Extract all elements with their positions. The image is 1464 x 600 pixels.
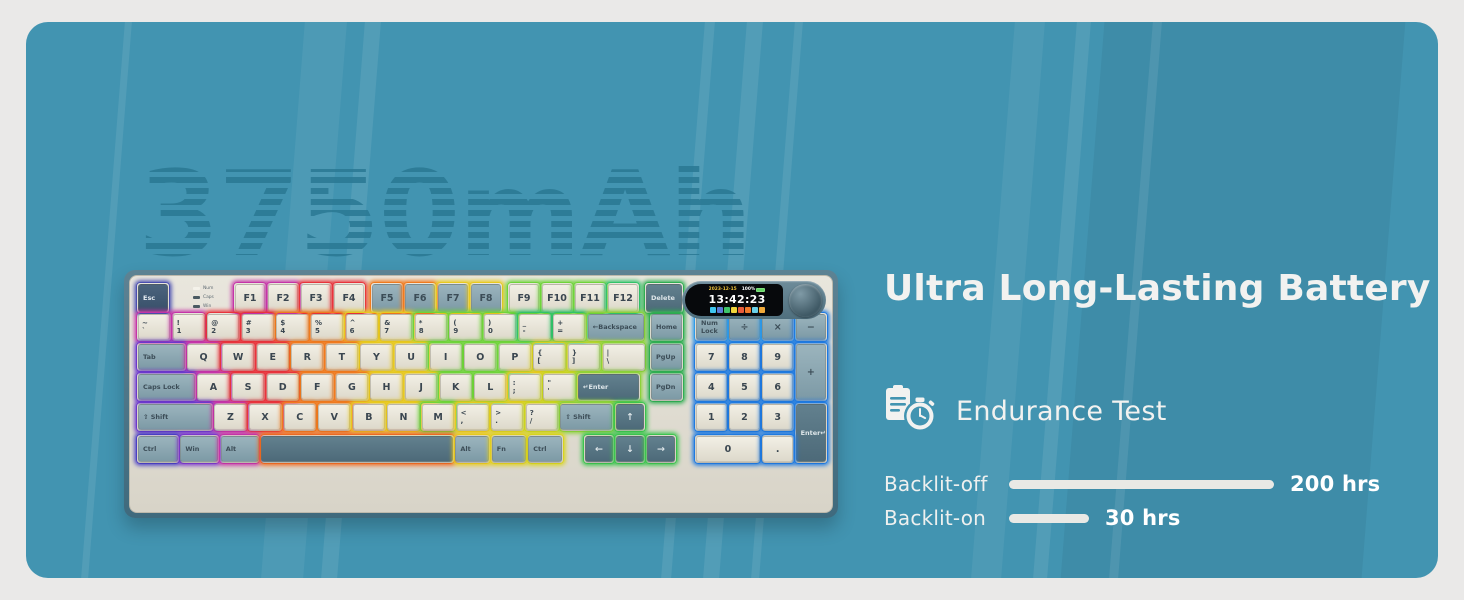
endurance-test-heading: Endurance Test — [884, 385, 1438, 437]
keycap-num-8[interactable]: 8 — [729, 344, 760, 370]
oled-screen: 2023-12-15 100% 13:42:23 — [685, 284, 783, 316]
keycap-55[interactable]: %5 — [311, 314, 343, 340]
led-label-caps: Caps — [203, 295, 214, 300]
led-dot-num — [193, 287, 200, 291]
keycap-44[interactable]: $4 — [276, 314, 308, 340]
screen-battery-pct: 100% — [742, 287, 756, 292]
keycap-z[interactable]: Z — [214, 404, 246, 430]
keycap-w[interactable]: W — [222, 344, 254, 370]
led-dot-caps — [193, 296, 200, 300]
teal-banner: 3750mAh EscF1F2F3F4F5F6F7F8F9F10F11F12De… — [26, 22, 1438, 578]
bar-category-label: Backlit-off — [884, 472, 1009, 496]
keycap-num-period[interactable]: . — [762, 436, 793, 462]
led-num: Num — [193, 286, 214, 291]
screen-status-icon — [717, 307, 723, 313]
keycap-f10[interactable]: F10 — [542, 284, 572, 312]
led-dot-win — [193, 305, 200, 309]
screen-battery: 100% — [742, 287, 766, 292]
keycap-shift-left[interactable]: ⇧ Shift — [138, 404, 212, 430]
display-knob-module: 2023-12-15 100% 13:42:23 — [682, 281, 826, 319]
keycap-bracket-right[interactable]: }] — [568, 344, 600, 370]
keycap-99[interactable]: (9 — [449, 314, 481, 340]
keycap-num-9[interactable]: 9 — [762, 344, 793, 370]
keycap-space[interactable] — [261, 436, 453, 462]
keycap-esc[interactable]: Esc — [138, 284, 168, 312]
keycap-plus[interactable]: + — [796, 344, 827, 400]
bar-row: Backlit-off200 hrs — [884, 467, 1438, 501]
keycap-22[interactable]: @2 — [207, 314, 239, 340]
keycap-f11[interactable]: F11 — [575, 284, 605, 312]
keycap-num-1[interactable]: 1 — [696, 404, 727, 430]
keycap-f[interactable]: F — [301, 374, 333, 400]
bar-track — [1009, 514, 1089, 523]
keycap-e[interactable]: E — [257, 344, 289, 370]
keycap-num-0[interactable]: 0 — [696, 436, 760, 462]
keycap-quote[interactable]: "' — [543, 374, 575, 400]
keycap-f3[interactable]: F3 — [301, 284, 331, 312]
bar-row: Backlit-on30 hrs — [884, 501, 1438, 535]
keycap-backslash[interactable]: |\ — [603, 344, 645, 370]
volume-knob[interactable] — [789, 284, 822, 317]
keycap-alt-left[interactable]: Alt — [221, 436, 259, 462]
keycap-delete[interactable]: Delete — [646, 284, 682, 312]
keycap-l[interactable]: L — [474, 374, 506, 400]
keycap-arrow-down[interactable]: ↓ — [616, 436, 644, 462]
keycap-f4[interactable]: F4 — [334, 284, 364, 312]
led-win: Win — [193, 304, 214, 309]
screen-status-icon — [759, 307, 765, 313]
promo-banner-stage: 3750mAh EscF1F2F3F4F5F6F7F8F9F10F11F12De… — [0, 0, 1464, 600]
bar-value-label: 30 hrs — [1105, 506, 1181, 530]
screen-status-icon — [738, 307, 744, 313]
keycap-home[interactable]: Home — [651, 314, 682, 340]
keycap-alt-right[interactable]: Alt — [455, 436, 489, 462]
keycap-fn[interactable]: Fn — [492, 436, 526, 462]
keycap-i[interactable]: I — [430, 344, 462, 370]
keycap-num-7[interactable]: 7 — [696, 344, 727, 370]
keycap-pgup[interactable]: PgUp — [651, 344, 682, 370]
keycap-arrow-left[interactable]: ← — [585, 436, 613, 462]
bar-value-label: 200 hrs — [1290, 472, 1380, 496]
keycap-u[interactable]: U — [395, 344, 427, 370]
keyboard-illustration: EscF1F2F3F4F5F6F7F8F9F10F11F12Delete~`!1… — [124, 270, 838, 518]
keycap-f6[interactable]: F6 — [405, 284, 435, 312]
keycap-f9[interactable]: F9 — [509, 284, 539, 312]
keycap-b[interactable]: B — [353, 404, 385, 430]
endurance-test-label: Endurance Test — [956, 396, 1167, 427]
led-label-win: Win — [203, 304, 211, 309]
keycap-num-enter[interactable]: Enter↵ — [796, 404, 827, 462]
screen-time: 13:42:23 — [708, 293, 765, 306]
keycap-r[interactable]: R — [291, 344, 323, 370]
keycap-66[interactable]: ^6 — [346, 314, 378, 340]
keycap-slash[interactable]: ?/ — [526, 404, 558, 430]
keycap-h[interactable]: H — [370, 374, 402, 400]
keycap-m[interactable]: M — [422, 404, 454, 430]
keycap-arrow-right[interactable]: → — [647, 436, 675, 462]
keycap-num-2[interactable]: 2 — [729, 404, 760, 430]
battery-capacity-watermark: 3750mAh — [138, 155, 751, 273]
keycap-num-4[interactable]: 4 — [696, 374, 727, 400]
keycap-t[interactable]: T — [326, 344, 358, 370]
keycap-77[interactable]: &7 — [380, 314, 412, 340]
keycap-comma[interactable]: <, — [457, 404, 489, 430]
keycap-010[interactable]: )0 — [484, 314, 516, 340]
indicator-leds: Num Caps Win — [193, 286, 214, 309]
keycap-semicolon[interactable]: :; — [509, 374, 541, 400]
keycap-d[interactable]: D — [267, 374, 299, 400]
battery-icon — [756, 288, 765, 292]
keycap-a[interactable]: A — [197, 374, 229, 400]
keycap-f7[interactable]: F7 — [438, 284, 468, 312]
keycap-n[interactable]: N — [387, 404, 419, 430]
keycap-f2[interactable]: F2 — [268, 284, 298, 312]
screen-status-icons — [710, 307, 765, 313]
keycap-g[interactable]: G — [336, 374, 368, 400]
keycap-ctrl-right[interactable]: Ctrl — [528, 436, 562, 462]
keycap-11[interactable]: !1 — [173, 314, 205, 340]
keycap-tab[interactable]: Tab — [138, 344, 185, 370]
screen-status-icon — [745, 307, 751, 313]
screen-status-icon — [710, 307, 716, 313]
keycap-caps-lock[interactable]: Caps Lock — [138, 374, 195, 400]
keycap-k[interactable]: K — [440, 374, 472, 400]
bar-track — [1009, 480, 1274, 489]
keycap-0[interactable]: ~` — [138, 314, 170, 340]
headline: Ultra Long-Lasting Battery Life — [884, 268, 1438, 309]
keycap-s[interactable]: S — [232, 374, 264, 400]
keycap-num-5[interactable]: 5 — [729, 374, 760, 400]
keycap-f5[interactable]: F5 — [372, 284, 402, 312]
keycap-j[interactable]: J — [405, 374, 437, 400]
clipboard-stopwatch-icon — [884, 385, 940, 437]
keycap-shift-right[interactable]: ⇧ Shift — [560, 404, 612, 430]
keycap-period[interactable]: >. — [491, 404, 523, 430]
keycap-11[interactable]: _- — [519, 314, 551, 340]
led-caps: Caps — [193, 295, 214, 300]
keycap-f8[interactable]: F8 — [471, 284, 501, 312]
keycap-o[interactable]: O — [464, 344, 496, 370]
keycap-33[interactable]: #3 — [242, 314, 274, 340]
keycap-q[interactable]: Q — [187, 344, 219, 370]
bar-category-label: Backlit-on — [884, 506, 1009, 530]
marketing-copy: Ultra Long-Lasting Battery Life — [884, 268, 1438, 535]
keycap-backspace[interactable]: ←Backspace — [588, 314, 644, 340]
keycap-y[interactable]: Y — [360, 344, 392, 370]
keycap-num-6[interactable]: 6 — [762, 374, 793, 400]
keycap-bracket-left[interactable]: {[ — [533, 344, 565, 370]
endurance-bar-chart: Backlit-off200 hrsBacklit-on30 hrs — [884, 467, 1438, 535]
keycap-ctrl-left[interactable]: Ctrl — [138, 436, 178, 462]
screen-status-icon — [731, 307, 737, 313]
screen-status-row: 2023-12-15 100% — [709, 287, 766, 292]
keycap-arrow-up[interactable]: ↑ — [616, 404, 644, 430]
keycap-f12[interactable]: F12 — [608, 284, 638, 312]
keycap-12[interactable]: += — [553, 314, 585, 340]
keycap-x[interactable]: X — [249, 404, 281, 430]
keycap-p[interactable]: P — [499, 344, 531, 370]
keycap-f1[interactable]: F1 — [235, 284, 265, 312]
keycap-enter[interactable]: ↵Enter — [578, 374, 639, 400]
keyboard-plate: EscF1F2F3F4F5F6F7F8F9F10F11F12Delete~`!1… — [129, 275, 833, 513]
keycap-v[interactable]: V — [318, 404, 350, 430]
screen-date: 2023-12-15 — [709, 287, 737, 292]
screen-status-icon — [752, 307, 758, 313]
keycap-num-3[interactable]: 3 — [762, 404, 793, 430]
led-label-num: Num — [203, 286, 213, 291]
screen-status-icon — [724, 307, 730, 313]
keycap-c[interactable]: C — [284, 404, 316, 430]
keycap-pgdn[interactable]: PgDn — [651, 374, 682, 400]
keycap-88[interactable]: *8 — [415, 314, 447, 340]
keycap-win[interactable]: Win — [180, 436, 218, 462]
